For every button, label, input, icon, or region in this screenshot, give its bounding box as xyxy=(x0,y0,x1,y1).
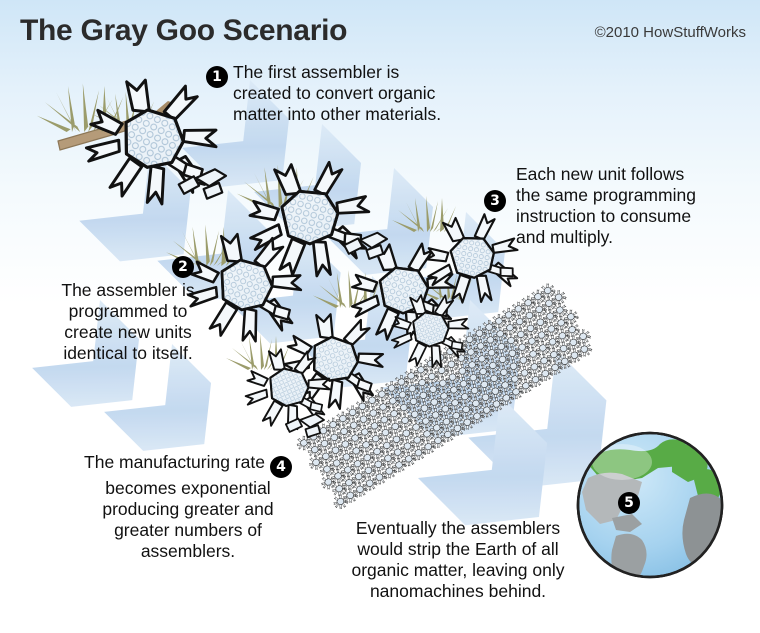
step-4-line-5: assemblers. xyxy=(58,541,318,562)
step-4-line-1: The manufacturing rate xyxy=(84,452,265,472)
step-3-line-4: and multiply. xyxy=(516,227,754,248)
step-3-line-2: the same programming xyxy=(516,185,754,206)
step-2-line-4: identical to itself. xyxy=(28,343,228,364)
callout-step-5: 5 Eventually the assemblers would strip … xyxy=(318,518,598,602)
callout-step-3: 3 Each new unit follows the same program… xyxy=(516,164,754,248)
step-5-line-3: organic matter, leaving only xyxy=(318,560,598,581)
step-badge-4: 4 xyxy=(270,456,292,478)
copyright-notice: ©2010 HowStuffWorks xyxy=(595,24,746,41)
callout-step-2: 2 The assembler is programmed to create … xyxy=(28,252,228,364)
step-badge-3: 3 xyxy=(484,190,506,212)
callout-step-1: 1The first assembler iscreated to conver… xyxy=(206,62,506,125)
step-5-line-4: nanomachines behind. xyxy=(318,581,598,602)
step-badge-5: 5 xyxy=(618,492,640,514)
callout-step-4: The manufacturing rate4 becomes exponent… xyxy=(58,452,318,562)
step-4-line-3: producing greater and xyxy=(58,499,318,520)
step-4-line-4: greater numbers of xyxy=(58,520,318,541)
infographic-canvas: The Gray Goo Scenario ©2010 HowStuffWork… xyxy=(0,0,760,633)
step-2-line-2: programmed to xyxy=(28,301,228,322)
step-badge-1: 1 xyxy=(206,66,228,88)
text-layer: The Gray Goo Scenario ©2010 HowStuffWork… xyxy=(0,0,760,633)
step-2-line-1: The assembler is xyxy=(28,280,228,301)
step-3-line-1: Each new unit follows xyxy=(516,164,754,185)
step-1-line-1: The first assembler is xyxy=(233,62,399,82)
step-5-line-2: would strip the Earth of all xyxy=(318,539,598,560)
step-4-line-2: becomes exponential xyxy=(58,478,318,499)
step-badge-2: 2 xyxy=(172,256,194,278)
step-2-line-3: create new units xyxy=(28,322,228,343)
step-5-line-1: Eventually the assemblers xyxy=(318,518,598,539)
page-title: The Gray Goo Scenario xyxy=(20,14,347,48)
step-1-line-3: matter into other materials. xyxy=(233,104,441,124)
step-3-line-3: instruction to consume xyxy=(516,206,754,227)
step-1-line-2: created to convert organic xyxy=(233,83,435,103)
